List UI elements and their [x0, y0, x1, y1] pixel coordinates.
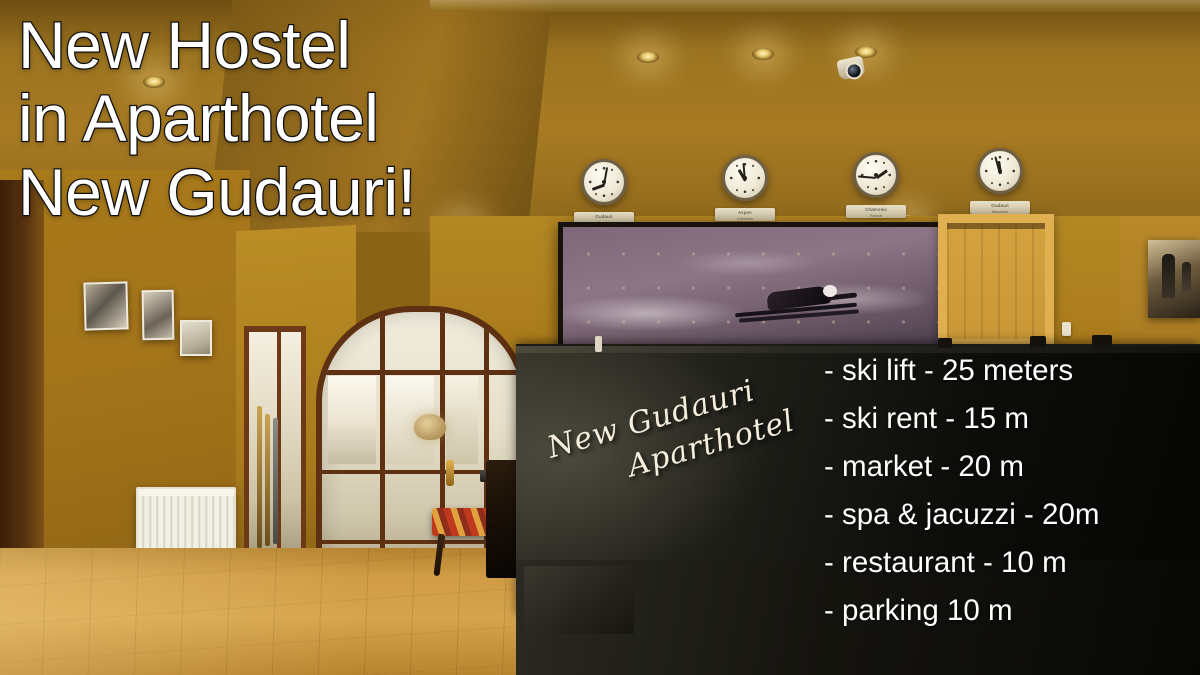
pendant-lamp: [414, 414, 446, 440]
framed-photo: [83, 281, 128, 330]
screenshot-canvas: Gudauri Georgia Aspen Colorado Chamonix …: [0, 0, 1200, 675]
desk-item: [595, 336, 602, 352]
framed-photo-skiers: [1148, 240, 1200, 318]
ceiling-edge-trim: [430, 0, 1200, 12]
ceiling-downlight-icon: [752, 48, 774, 60]
list-item: - ski lift - 25 meters: [824, 356, 1200, 386]
clock-center-pin: [602, 180, 606, 184]
entrance-mullion: [380, 312, 385, 568]
list-item: - parking 10 m: [824, 596, 1200, 626]
list-item: - restaurant - 10 m: [824, 548, 1200, 578]
wall-clock: [853, 152, 899, 198]
light-switch[interactable]: [1062, 322, 1071, 336]
entrance-glass-pane: [446, 376, 478, 464]
door-handle[interactable]: [446, 460, 454, 486]
list-item: - market - 20 m: [824, 452, 1200, 482]
ski-rack: [255, 406, 283, 548]
ceiling-downlight-icon: [637, 51, 659, 63]
clock-center-pin: [998, 169, 1002, 173]
desk-item: [1092, 335, 1112, 347]
left-wall-shadow: [0, 180, 44, 610]
wall-clock: [977, 148, 1023, 194]
floor-reflection: [0, 548, 560, 675]
framed-photo: [142, 290, 175, 341]
framed-photo: [180, 320, 212, 356]
clock-city-label: Chamonix France: [846, 205, 906, 218]
pine-wood-door[interactable]: [938, 214, 1054, 348]
counter-plinth-block: [524, 566, 634, 634]
arch-transom-bar: [322, 370, 522, 375]
page-title: New Hostel in Aparthotel New Gudauri!: [18, 12, 578, 232]
door-top-shadow: [947, 223, 1045, 229]
clock-city-label: Aspen Colorado: [715, 208, 775, 221]
wall-clock: [581, 159, 627, 205]
door-grain: [947, 223, 1045, 339]
clock-center-pin: [874, 173, 878, 177]
list-item: - spa & jacuzzi - 20m: [824, 500, 1200, 530]
title-line-3: New Gudauri!: [18, 159, 578, 226]
desk-item: [1030, 336, 1046, 347]
desk-item: [938, 338, 952, 348]
ski-jumper-photo-panel: [558, 222, 952, 352]
wall-clock: [722, 155, 768, 201]
title-line-2: in Aparthotel: [18, 85, 578, 152]
title-line-1: New Hostel: [18, 12, 578, 79]
clock-city-label: Gudauri Mountain: [970, 201, 1030, 214]
ski-jumper-figure-icon: [735, 281, 865, 321]
list-item: - ski rent - 15 m: [824, 404, 1200, 434]
clock-center-pin: [743, 176, 747, 180]
counter-top-edge: [516, 346, 1200, 353]
feature-list: - ski lift - 25 meters - ski rent - 15 m…: [824, 356, 1200, 644]
entrance-glass-pane: [328, 376, 376, 464]
